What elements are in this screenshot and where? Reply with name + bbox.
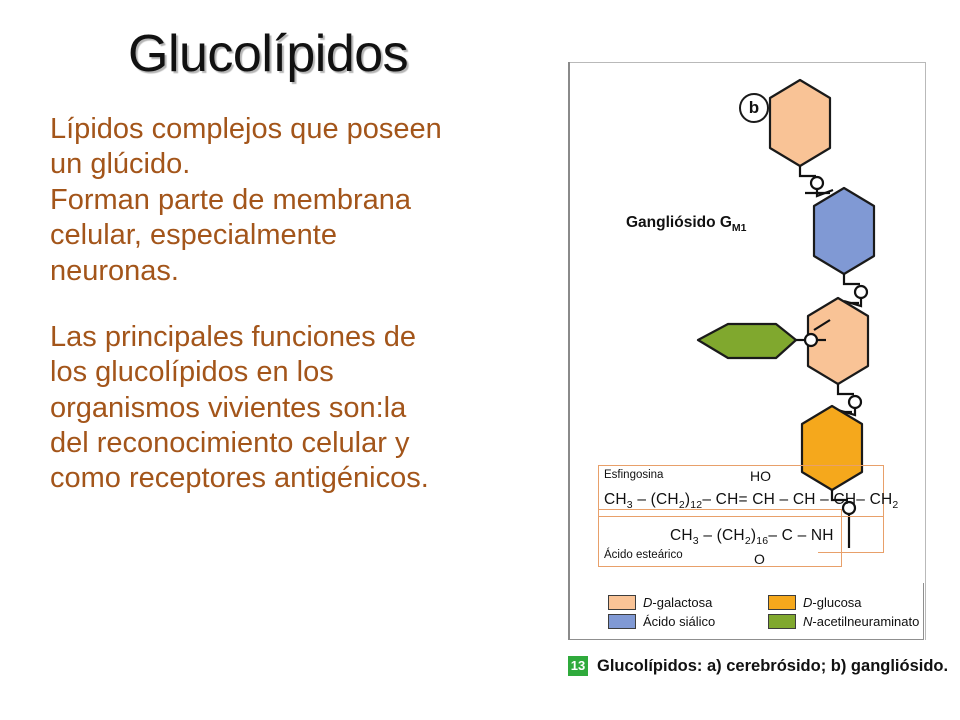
- glycosidic-bond-3: [838, 384, 854, 394]
- legend-swatch-n-acetilneuraminato: [768, 614, 796, 629]
- molecule-name-label: Gangliósido GM1: [626, 214, 747, 234]
- legend-label-d-galactosa: D-galactosa: [643, 595, 712, 610]
- legend-label-d-glucosa: D-glucosa: [803, 595, 862, 610]
- legend-column-1: D-galactosa Ácido siálico: [608, 593, 715, 631]
- legend-swatch-d-galactosa: [608, 595, 636, 610]
- panel-letter-b: b: [739, 93, 769, 123]
- paragraph-2-line-2: los glucolípidos en los: [50, 355, 520, 390]
- paragraph-1-line-3: Forman parte de membrana: [50, 183, 520, 218]
- legend-item-acido-sialico: Ácido siálico: [608, 612, 715, 631]
- paragraph-2-line-4: del reconocimiento celular y: [50, 426, 520, 461]
- legend-swatch-acido-sialico: [608, 614, 636, 629]
- caption-number-badge: 13: [568, 656, 588, 676]
- slide-body-text: Lípidos complejos que poseen un glúcido.…: [50, 112, 520, 497]
- stearic-chain-formula: CH3 – (CH2)16– C – NH: [670, 527, 834, 547]
- figure-legend: D-galactosa Ácido siálico D-glucosa N-ac…: [570, 583, 924, 640]
- legend-swatch-d-glucosa: [768, 595, 796, 610]
- hydroxyl-label: HO: [750, 468, 771, 484]
- figure-panel: b Gangliósido GM1 Esfingosina Ácido este…: [568, 62, 928, 690]
- paragraph-2-line-3: organismos vivientes son:la: [50, 391, 520, 426]
- carbonyl-oxygen-label: O: [754, 551, 765, 567]
- legend-item-n-acetilneuraminato: N-acetilneuraminato: [768, 612, 919, 631]
- legend-item-d-galactosa: D-galactosa: [608, 593, 715, 612]
- bond-oxygen-3: [849, 396, 861, 408]
- bond-oxygen-2: [855, 286, 867, 298]
- figure-caption: 13 Glucolípidos: a) cerebrósido; b) gang…: [568, 656, 948, 676]
- hexagon-n-acetilneuraminato: [698, 324, 796, 358]
- legend-item-d-glucosa: D-glucosa: [768, 593, 919, 612]
- caption-text: Glucolípidos: a) cerebrósido; b) ganglió…: [597, 657, 948, 676]
- paragraph-2-line-5: como receptores antigénicos.: [50, 461, 520, 496]
- glycosidic-bond-2: [844, 274, 860, 284]
- stearic-acid-label: Ácido esteárico: [604, 549, 683, 561]
- ceramide-formula-block: Esfingosina Ácido esteárico HO CH3 – (CH…: [598, 457, 898, 567]
- molecule-name-text: Gangliósido G: [626, 214, 732, 231]
- paragraph-2: Las principales funciones de los glucolí…: [50, 320, 520, 497]
- hexagon-acido-sialico: [814, 188, 874, 274]
- legend-column-2: D-glucosa N-acetilneuraminato: [768, 593, 919, 631]
- bond-oxygen-1: [811, 177, 823, 189]
- hexagon-d-galactosa-1: [770, 80, 830, 166]
- paragraph-1-line-2: un glúcido.: [50, 147, 520, 182]
- paragraph-1: Lípidos complejos que poseen un glúcido.…: [50, 112, 520, 289]
- paragraph-1-line-4: celular, especialmente: [50, 218, 520, 253]
- paragraph-2-line-1: Las principales funciones de: [50, 320, 520, 355]
- slide-canvas: Glucolípidos Lípidos complejos que posee…: [0, 0, 960, 720]
- page-title: Glucolípidos: [128, 24, 408, 84]
- legend-label-acido-sialico: Ácido siálico: [643, 614, 715, 629]
- glycosidic-bond-1: [800, 166, 816, 176]
- branch-oxygen: [805, 334, 817, 346]
- paragraph-1-line-5: neuronas.: [50, 254, 520, 289]
- sphingosine-chain-formula: CH3 – (CH2)12– CH= CH – CH – CH– CH2: [604, 491, 898, 511]
- sphingosine-label: Esfingosina: [604, 469, 663, 481]
- paragraph-1-line-1: Lípidos complejos que poseen: [50, 112, 520, 147]
- molecule-name-subscript: M1: [732, 222, 747, 234]
- legend-label-n-acetilneuraminato: N-acetilneuraminato: [803, 614, 919, 629]
